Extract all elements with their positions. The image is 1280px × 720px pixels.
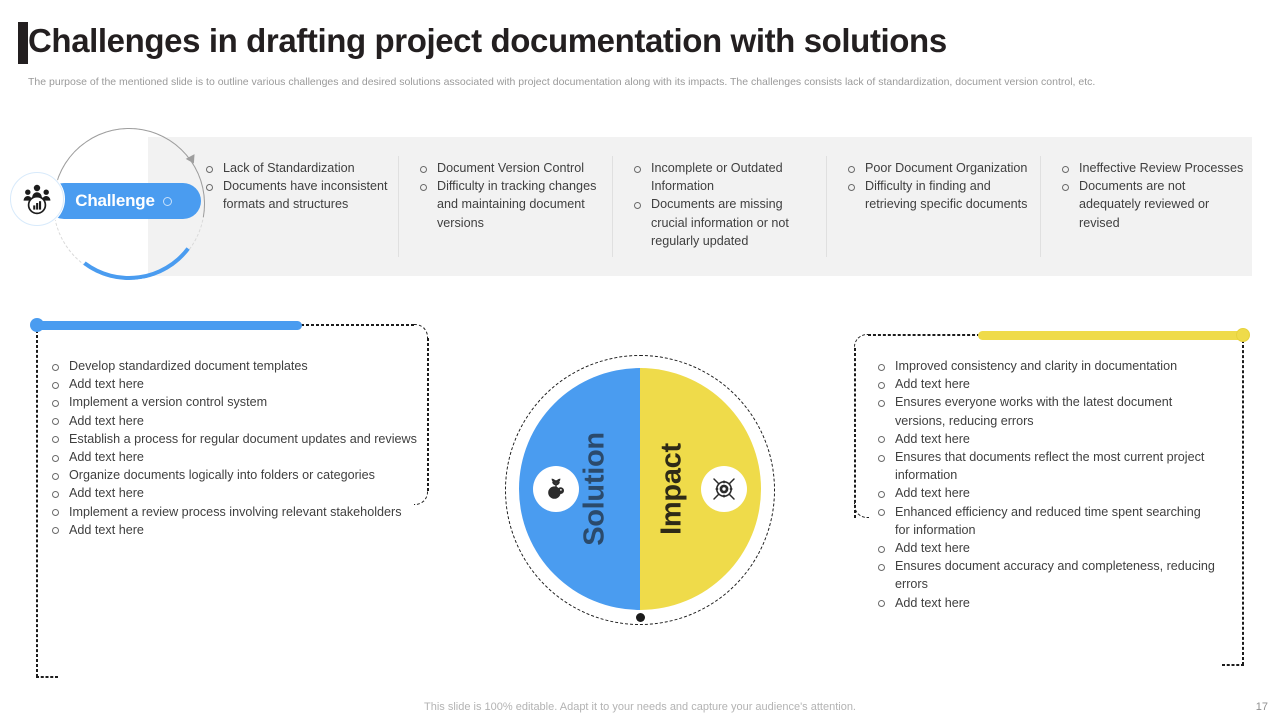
list-item: Incomplete or Outdated Information bbox=[632, 159, 822, 195]
list-item: Ineffective Review Processes bbox=[1060, 159, 1250, 177]
impact-bracket-bottom bbox=[1222, 664, 1244, 666]
impact-bracket-right bbox=[1242, 335, 1244, 665]
list-item: Enhanced efficiency and reduced time spe… bbox=[876, 503, 1216, 539]
challenge-column-3: Incomplete or Outdated Information Docum… bbox=[632, 159, 822, 250]
solution-impact-circle: Solution Impact bbox=[519, 368, 761, 610]
challenge-column-5: Ineffective Review Processes Documents a… bbox=[1060, 159, 1250, 232]
target-gear-icon bbox=[701, 466, 747, 512]
solution-accent-bar bbox=[36, 321, 302, 330]
list-item: Ensures everyone works with the latest d… bbox=[876, 393, 1216, 429]
list-item: Difficulty in tracking changes and maint… bbox=[418, 177, 608, 232]
solution-bracket-bottom bbox=[36, 676, 58, 678]
solution-bracket-left bbox=[36, 325, 38, 677]
page-title: Challenges in drafting project documenta… bbox=[28, 22, 947, 60]
list-item: Develop standardized document templates bbox=[50, 357, 420, 375]
list-item: Add text here bbox=[50, 521, 420, 539]
page-subtitle: The purpose of the mentioned slide is to… bbox=[28, 75, 1243, 89]
challenge-badge[interactable]: Challenge bbox=[46, 183, 201, 219]
challenge-list-4: Poor Document Organization Difficulty in… bbox=[846, 159, 1036, 214]
band-divider-1 bbox=[398, 156, 399, 257]
list-item: Difficulty in finding and retrieving spe… bbox=[846, 177, 1036, 213]
page-number: 17 bbox=[1256, 701, 1268, 713]
list-item: Ensures that documents reflect the most … bbox=[876, 448, 1216, 484]
title-accent-bar bbox=[18, 22, 28, 64]
list-item: Add text here bbox=[50, 412, 420, 430]
center-node-bottom bbox=[636, 613, 645, 622]
list-item: Establish a process for regular document… bbox=[50, 430, 420, 448]
solution-bracket-corner-tr bbox=[414, 324, 428, 339]
list-item: Add text here bbox=[876, 375, 1216, 393]
impact-accent-dot bbox=[1236, 328, 1250, 342]
solution-bracket-right bbox=[427, 338, 429, 491]
team-bar-chart-icon bbox=[10, 172, 64, 226]
challenge-list-2: Document Version Control Difficulty in t… bbox=[418, 159, 608, 232]
solution-list: Develop standardized document templates … bbox=[50, 357, 420, 539]
list-item: Implement a version control system bbox=[50, 393, 420, 411]
growth-plant-icon bbox=[533, 466, 579, 512]
impact-bracket-corner-tl bbox=[854, 334, 869, 349]
list-item: Poor Document Organization bbox=[846, 159, 1036, 177]
solution-bracket-top bbox=[296, 324, 414, 326]
list-item: Documents are missing crucial informatio… bbox=[632, 195, 822, 250]
list-item: Document Version Control bbox=[418, 159, 608, 177]
list-item: Documents are not adequately reviewed or… bbox=[1060, 177, 1250, 232]
list-item: Add text here bbox=[876, 539, 1216, 557]
solution-accent-dot bbox=[30, 318, 44, 332]
list-item: Lack of Standardization bbox=[204, 159, 394, 177]
band-divider-2 bbox=[612, 156, 613, 257]
impact-list-container: Improved consistency and clarity in docu… bbox=[876, 357, 1216, 612]
list-item: Documents have inconsistent formats and … bbox=[204, 177, 394, 213]
slide-canvas: Challenges in drafting project documenta… bbox=[0, 0, 1280, 720]
challenge-column-4: Poor Document Organization Difficulty in… bbox=[846, 159, 1036, 214]
list-item: Implement a review process involving rel… bbox=[50, 503, 420, 521]
impact-accent-bar bbox=[978, 331, 1244, 340]
challenge-list-1: Lack of Standardization Documents have i… bbox=[204, 159, 394, 214]
challenge-list-3: Incomplete or Outdated Information Docum… bbox=[632, 159, 822, 250]
solution-label: Solution bbox=[579, 432, 612, 546]
challenge-badge-label: Challenge bbox=[75, 191, 154, 211]
list-item: Add text here bbox=[876, 484, 1216, 502]
challenge-column-2: Document Version Control Difficulty in t… bbox=[418, 159, 608, 232]
list-item: Add text here bbox=[50, 448, 420, 466]
footer-note: This slide is 100% editable. Adapt it to… bbox=[0, 701, 1280, 713]
solution-list-container: Develop standardized document templates … bbox=[50, 357, 420, 539]
circle-marker-icon bbox=[163, 197, 172, 206]
impact-label: Impact bbox=[655, 443, 688, 535]
challenge-list-5: Ineffective Review Processes Documents a… bbox=[1060, 159, 1250, 232]
impact-half[interactable]: Impact bbox=[640, 368, 761, 610]
list-item: Add text here bbox=[876, 594, 1216, 612]
challenge-column-1: Lack of Standardization Documents have i… bbox=[204, 159, 394, 214]
solution-half[interactable]: Solution bbox=[519, 368, 640, 610]
list-item: Organize documents logically into folder… bbox=[50, 466, 420, 484]
list-item: Add text here bbox=[876, 430, 1216, 448]
list-item: Add text here bbox=[50, 375, 420, 393]
impact-bracket-top bbox=[868, 334, 980, 336]
impact-bracket-corner-bl bbox=[854, 503, 869, 518]
list-item: Improved consistency and clarity in docu… bbox=[876, 357, 1216, 375]
band-divider-3 bbox=[826, 156, 827, 257]
list-item: Ensures document accuracy and completene… bbox=[876, 557, 1216, 593]
list-item: Add text here bbox=[50, 484, 420, 502]
impact-bracket-left bbox=[854, 348, 856, 518]
impact-list: Improved consistency and clarity in docu… bbox=[876, 357, 1216, 612]
band-divider-4 bbox=[1040, 156, 1041, 257]
